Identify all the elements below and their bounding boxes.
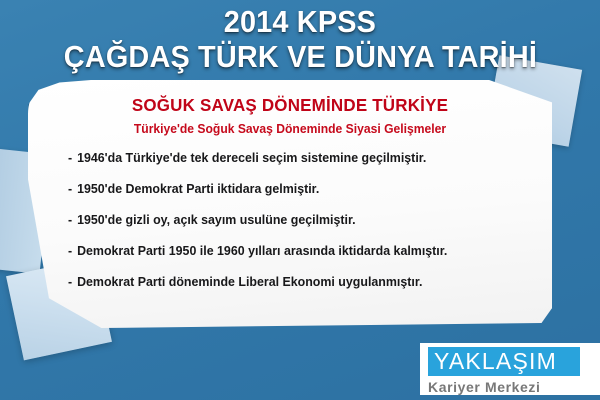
content-subheading: Türkiye'de Soğuk Savaş Döneminde Siyasi … <box>61 120 519 138</box>
bullet-marker: - <box>68 150 72 166</box>
logo-tagline: Kariyer Merkezi <box>428 378 600 396</box>
list-item: - Demokrat Parti döneminde Liberal Ekono… <box>68 274 519 290</box>
content-heading: SOĞUK SAVAŞ DÖNEMİNDE TÜRKİYE <box>61 94 519 116</box>
header-title-line-2: ÇAĞDAŞ TÜRK VE DÜNYA TARİHİ <box>63 39 536 75</box>
bullet-marker: - <box>68 243 72 259</box>
list-item: - 1946'da Türkiye'de tek dereceli seçim … <box>68 150 519 166</box>
slide-canvas: 2014 KPSS ÇAĞDAŞ TÜRK VE DÜNYA TARİHİ SO… <box>0 0 600 400</box>
content-paper-sheet: SOĞUK SAVAŞ DÖNEMİNDE TÜRKİYE Türkiye'de… <box>28 80 552 328</box>
list-item: - 1950'de Demokrat Parti iktidara gelmiş… <box>68 181 519 197</box>
bullet-marker: - <box>68 212 72 228</box>
list-item-text: Demokrat Parti döneminde Liberal Ekonomi… <box>77 274 422 290</box>
bullet-marker: - <box>68 274 72 290</box>
bullet-list: - 1946'da Türkiye'de tek dereceli seçim … <box>54 150 526 290</box>
header-title-line-1: 2014 KPSS <box>224 5 376 39</box>
content-body: SOĞUK SAVAŞ DÖNEMİNDE TÜRKİYE Türkiye'de… <box>28 80 552 328</box>
list-item: - Demokrat Parti 1950 ile 1960 yılları a… <box>68 243 519 259</box>
bullet-marker: - <box>68 181 72 197</box>
list-item-text: 1950'de gizli oy, açık sayım usulüne geç… <box>77 212 356 228</box>
brand-logo: YAKLAŞIM Kariyer Merkezi <box>420 343 600 395</box>
logo-wordmark: YAKLAŞIM <box>434 348 574 374</box>
slide-header: 2014 KPSS ÇAĞDAŞ TÜRK VE DÜNYA TARİHİ <box>0 0 600 84</box>
list-item: - 1950'de gizli oy, açık sayım usulüne g… <box>68 212 519 228</box>
list-item-text: Demokrat Parti 1950 ile 1960 yılları ara… <box>77 243 447 259</box>
list-item-text: 1950'de Demokrat Parti iktidara gelmişti… <box>77 181 319 197</box>
logo-band: YAKLAŞIM <box>428 347 580 376</box>
list-item-text: 1946'da Türkiye'de tek dereceli seçim si… <box>77 150 426 166</box>
